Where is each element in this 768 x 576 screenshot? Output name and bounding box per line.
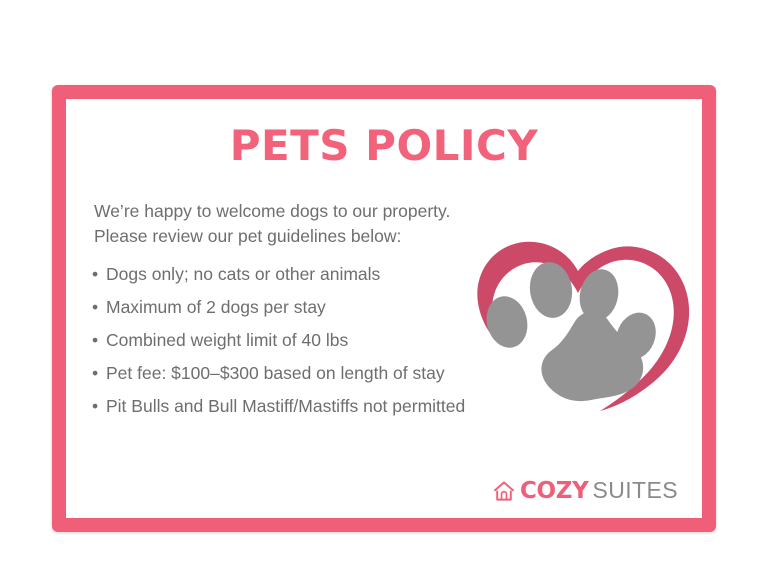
logo-brand-primary: COZY xyxy=(520,478,589,504)
list-item-label: Pet fee: $100–$300 based on length of st… xyxy=(106,362,531,384)
pets-policy-poster: PETS POLICY We’re happy to welcome dogs … xyxy=(52,85,716,532)
page-title: PETS POLICY xyxy=(66,125,702,167)
intro-line-1: We’re happy to welcome dogs to our prope… xyxy=(94,199,564,224)
list-item-label: Combined weight limit of 40 lbs xyxy=(106,329,531,351)
bullet-icon: • xyxy=(92,362,98,384)
house-outline-icon xyxy=(493,480,515,502)
list-item-label: Dogs only; no cats or other animals xyxy=(106,263,531,285)
pet-guidelines-list: • Dogs only; no cats or other animals • … xyxy=(91,263,531,428)
list-item: • Combined weight limit of 40 lbs xyxy=(91,329,531,351)
list-item: • Pet fee: $100–$300 based on length of … xyxy=(91,362,531,384)
cozy-suites-logo: COZY SUITES xyxy=(493,477,678,504)
bullet-icon: • xyxy=(92,263,98,285)
bullet-icon: • xyxy=(92,296,98,318)
list-item: • Maximum of 2 dogs per stay xyxy=(91,296,531,318)
list-item: • Dogs only; no cats or other animals xyxy=(91,263,531,285)
intro-line-2: Please review our pet guidelines below: xyxy=(94,224,564,249)
list-item-label: Pit Bulls and Bull Mastiff/Mastiffs not … xyxy=(106,395,531,417)
list-item: • Pit Bulls and Bull Mastiff/Mastiffs no… xyxy=(91,395,531,417)
poster-content-area: PETS POLICY We’re happy to welcome dogs … xyxy=(66,99,702,518)
bullet-icon: • xyxy=(92,395,98,417)
intro-paragraph: We’re happy to welcome dogs to our prope… xyxy=(94,199,564,249)
bullet-icon: • xyxy=(92,329,98,351)
list-item-label: Maximum of 2 dogs per stay xyxy=(106,296,531,318)
logo-brand-secondary: SUITES xyxy=(593,477,678,504)
